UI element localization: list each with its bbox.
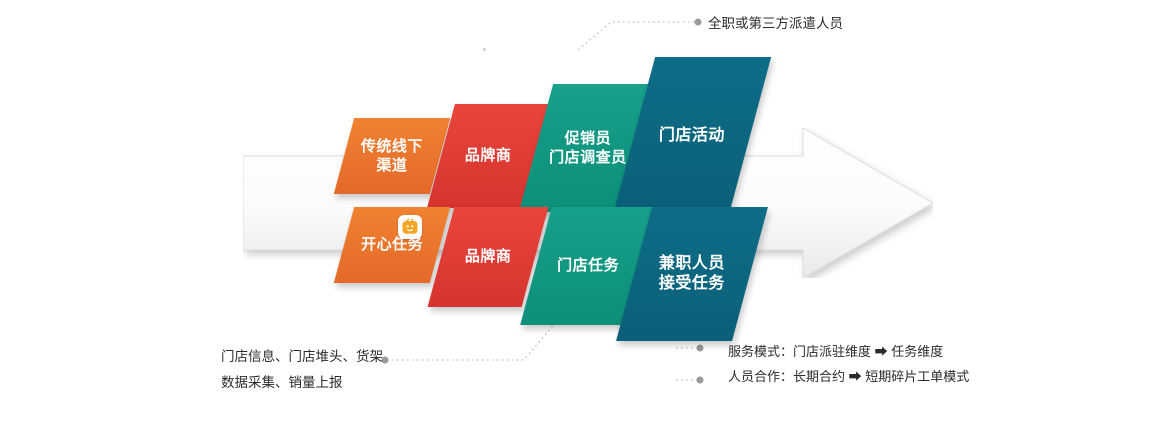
card-store-activity-label: 门店活动 bbox=[634, 126, 750, 146]
callout-cooperation-model-line: 人员合作：长期合约 ➡ 短期碎片工单模式 bbox=[728, 365, 969, 390]
callout-service-and-cooperation-model: 服务模式：门店派驻维度 ➡ 任务维度 人员合作：长期合约 ➡ 短期碎片工单模式 bbox=[728, 340, 969, 389]
card-brand-owner-bottom-label: 品牌商 bbox=[441, 247, 535, 266]
card-promoter-store-surveyor-label: 促销员 门店调查员 bbox=[536, 129, 640, 167]
callout-service-model-line: 服务模式：门店派驻维度 ➡ 任务维度 bbox=[728, 340, 969, 365]
card-parttime-accept-task-label: 兼职人员 接受任务 bbox=[634, 254, 750, 295]
callout-fulltime-or-dispatched-staff: 全职或第三方派遣人员 bbox=[708, 11, 843, 37]
card-happy-task[interactable]: 开心任务 bbox=[334, 207, 450, 283]
callout-store-data-collection-line1: 门店信息、门店堆头、货架 bbox=[221, 344, 383, 370]
card-traditional-offline-channel-label: 传统线下 渠道 bbox=[344, 137, 440, 175]
diagram-canvas: 传统线下 渠道 品牌商 促销员 门店调查员 门店活动 开心任务 品牌商 门店任务 bbox=[0, 0, 1150, 430]
callout-store-data-collection: 门店信息、门店堆头、货架 数据采集、销量上报 bbox=[221, 344, 383, 395]
happy-task-app-icon bbox=[398, 215, 422, 239]
card-happy-task-label: 开心任务 bbox=[344, 235, 440, 254]
card-brand-owner-top-label: 品牌商 bbox=[441, 146, 535, 165]
card-store-task-label: 门店任务 bbox=[536, 256, 640, 275]
callout-store-data-collection-line2: 数据采集、销量上报 bbox=[221, 370, 383, 396]
decorative-dot bbox=[483, 48, 486, 51]
